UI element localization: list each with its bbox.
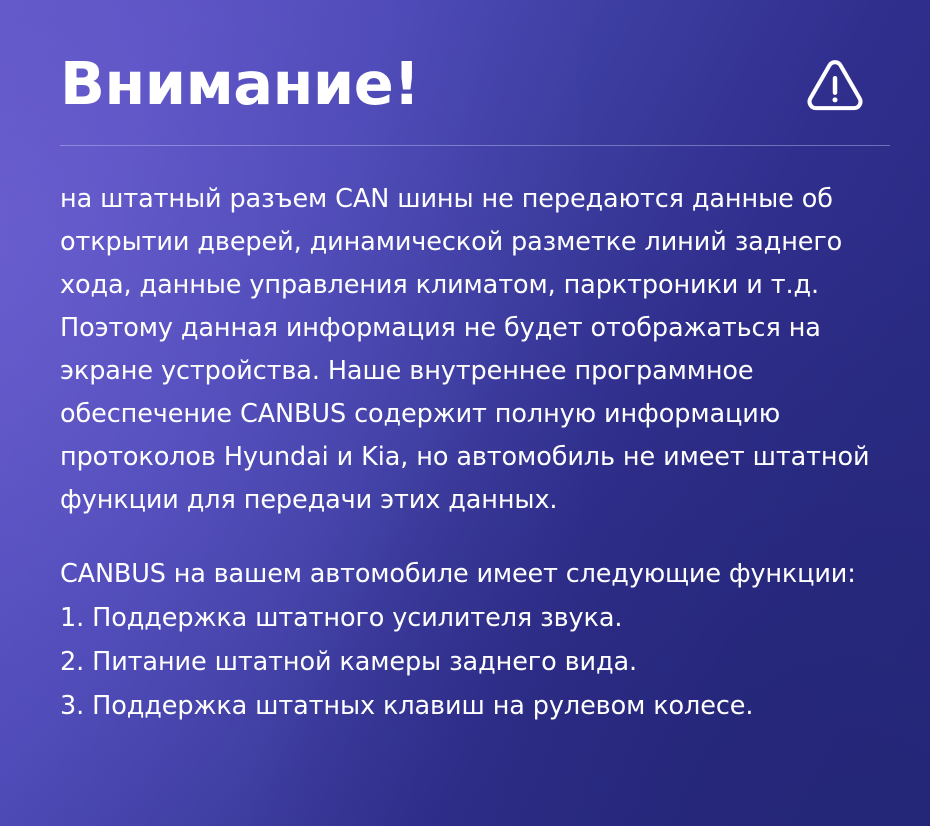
features-list: 1. Поддержка штатного усилителя звука. 2… [60, 596, 890, 728]
features-lead-text: CANBUS на вашем автомобиле имеет следующ… [60, 553, 890, 596]
warning-banner: Внимание! на штатный разъем CAN шины не … [0, 0, 930, 826]
warning-paragraph: на штатный разъем CAN шины не передаются… [60, 146, 890, 522]
list-item: 1. Поддержка штатного усилителя звука. [60, 596, 890, 640]
list-item: 2. Питание штатной камеры заднего вида. [60, 640, 890, 684]
features-section: CANBUS на вашем автомобиле имеет следующ… [60, 522, 890, 728]
banner-content: Внимание! на штатный разъем CAN шины не … [0, 0, 930, 728]
warning-triangle-icon [804, 53, 866, 115]
page-title: Внимание! [60, 52, 420, 116]
banner-header: Внимание! [60, 0, 890, 116]
list-item: 3. Поддержка штатных клавиш на рулевом к… [60, 684, 890, 728]
